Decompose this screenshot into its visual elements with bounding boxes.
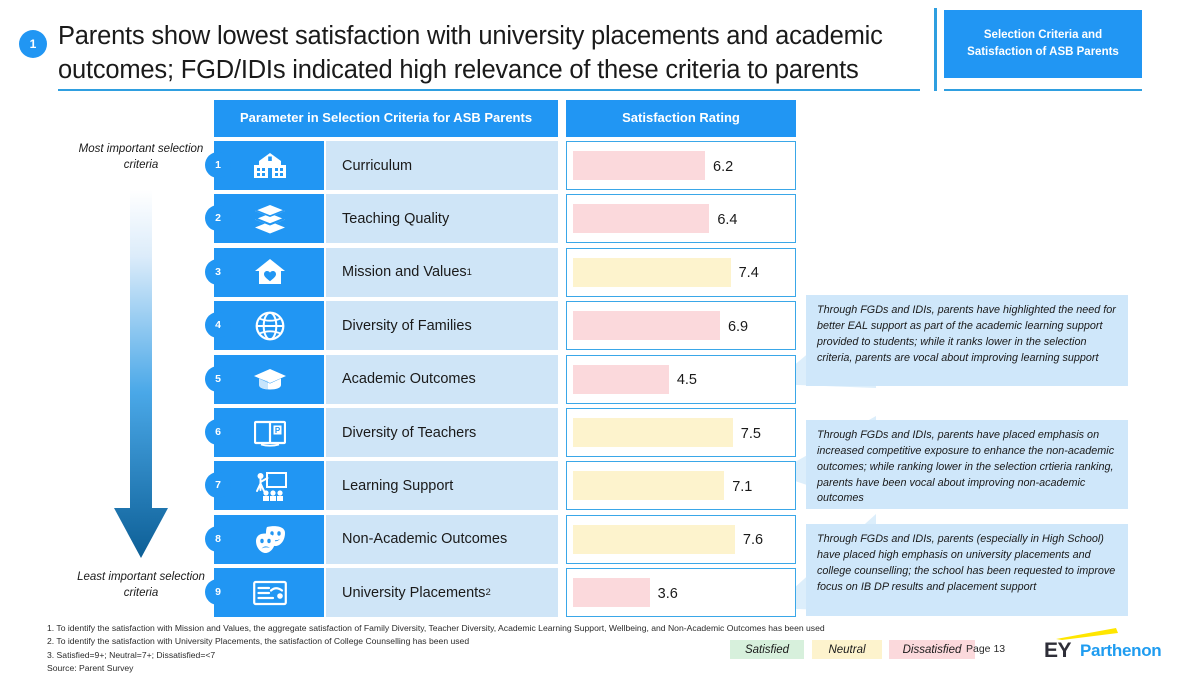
house-heart-icon [244, 255, 296, 290]
section-tag: Selection Criteria and Satisfaction of A… [944, 10, 1142, 78]
rating-bar [573, 578, 650, 607]
rating-value: 4.5 [677, 356, 697, 405]
row-label-text: Curriculum [342, 158, 412, 174]
row-icon-cell: 1 [214, 141, 324, 190]
importance-arrow-icon [110, 190, 172, 560]
globe-icon [244, 308, 296, 343]
table-row[interactable]: 2Teaching Quality6.4 [214, 194, 796, 243]
row-label: Teaching Quality [326, 194, 558, 243]
row-icon-cell: 2 [214, 194, 324, 243]
row-label: Diversity of Families [326, 301, 558, 350]
school-icon [244, 148, 296, 183]
row-icon-cell: 6P [214, 408, 324, 457]
table-row[interactable]: 1Curriculum6.2 [214, 141, 796, 190]
rating-cell: 4.5 [566, 355, 796, 404]
rating-cell: 7.5 [566, 408, 796, 457]
column-header-rating: Satisfaction Rating [566, 100, 796, 137]
row-rank-badge: 2 [205, 205, 231, 231]
row-label-text: Non-Academic Outcomes [342, 531, 507, 547]
books-icon [244, 201, 296, 236]
ey-parthenon-logo: EY Parthenon [1044, 628, 1154, 668]
row-label: Diversity of Teachers [326, 408, 558, 457]
legend-satisfied: Satisfied [730, 640, 804, 659]
row-icon-cell: 7 [214, 461, 324, 510]
row-rank-badge: 6 [205, 419, 231, 445]
row-rank-badge: 7 [205, 472, 231, 498]
rating-bar [573, 151, 705, 180]
row-label: Curriculum [326, 141, 558, 190]
row-label: Academic Outcomes [326, 355, 558, 404]
source-note: Source: Parent Survey [47, 662, 997, 675]
theater-masks-icon [244, 522, 296, 557]
rating-cell: 6.4 [566, 194, 796, 243]
rating-bar [573, 471, 724, 500]
table-row[interactable]: 9University Placements23.6 [214, 568, 796, 617]
row-label-footnote: 1 [467, 267, 472, 278]
arrow-label-most-important: Most important selection criteria [76, 142, 206, 173]
rating-bar [573, 525, 735, 554]
rating-bar [573, 311, 720, 340]
rating-value: 7.1 [732, 462, 752, 511]
rating-value: 6.9 [728, 302, 748, 351]
row-icon-cell: 4 [214, 301, 324, 350]
rating-cell: 7.4 [566, 248, 796, 297]
slide-canvas: 1 Parents show lowest satisfaction with … [0, 0, 1201, 676]
row-icon-cell: 9 [214, 568, 324, 617]
rating-value: 6.4 [717, 195, 737, 244]
row-label-text: Learning Support [342, 478, 453, 494]
row-rank-badge: 9 [205, 579, 231, 605]
table-row[interactable]: 7Learning Support7.1 [214, 461, 796, 510]
table-row[interactable]: 5Academic Outcomes4.5 [214, 355, 796, 404]
rating-cell: 6.2 [566, 141, 796, 190]
row-rank-badge: 4 [205, 312, 231, 338]
table-row[interactable]: 6PDiversity of Teachers7.5 [214, 408, 796, 457]
rating-value: 6.2 [713, 142, 733, 191]
rating-value: 7.6 [743, 516, 763, 565]
header-rule [58, 89, 920, 91]
table-row[interactable]: 4Diversity of Families6.9 [214, 301, 796, 350]
rating-value: 3.6 [658, 569, 678, 618]
rating-cell: 6.9 [566, 301, 796, 350]
rating-bar [573, 204, 709, 233]
legend-neutral: Neutral [812, 640, 882, 659]
row-label-text: Mission and Values [342, 264, 467, 280]
column-header-parameter: Parameter in Selection Criteria for ASB … [214, 100, 558, 137]
row-label-text: Teaching Quality [342, 211, 449, 227]
row-label-text: University Placements [342, 585, 485, 601]
row-label-text: Diversity of Families [342, 318, 472, 334]
page-number: Page 13 [966, 643, 1005, 655]
footnote-1: 1. To identify the satisfaction with Mis… [47, 622, 997, 635]
row-icon-cell: 8 [214, 515, 324, 564]
rating-value: 7.4 [739, 249, 759, 298]
rating-cell: 7.1 [566, 461, 796, 510]
callout-university-placements: Through FGDs and IDIs, parents (especial… [806, 524, 1128, 616]
row-rank-badge: 1 [205, 152, 231, 178]
row-label: Mission and Values1 [326, 248, 558, 297]
table-row[interactable]: 3Mission and Values17.4 [214, 248, 796, 297]
row-rank-badge: 8 [205, 526, 231, 552]
row-rank-badge: 5 [205, 366, 231, 392]
rating-value: 7.5 [741, 409, 761, 458]
rating-cell: 3.6 [566, 568, 796, 617]
row-label-text: Diversity of Teachers [342, 425, 476, 441]
header-rule-right [944, 89, 1142, 91]
row-rank-badge: 3 [205, 259, 231, 285]
ey-wordmark: Parthenon [1080, 641, 1161, 661]
callout-non-academic-outcomes: Through FGDs and IDIs, parents have plac… [806, 420, 1128, 509]
row-label: Learning Support [326, 461, 558, 510]
callout-learning-support: Through FGDs and IDIs, parents have high… [806, 295, 1128, 386]
graduation-cap-icon [244, 362, 296, 397]
header-vertical-divider [934, 8, 937, 91]
rating-bar [573, 418, 733, 447]
table-row[interactable]: 8Non-Academic Outcomes7.6 [214, 515, 796, 564]
arrow-label-least-important: Least important selection criteria [76, 570, 206, 601]
row-icon-cell: 3 [214, 248, 324, 297]
row-label-footnote: 2 [485, 587, 490, 598]
row-label: University Placements2 [326, 568, 558, 617]
row-label: Non-Academic Outcomes [326, 515, 558, 564]
page-title: Parents show lowest satisfaction with un… [58, 20, 918, 87]
row-label-text: Academic Outcomes [342, 371, 476, 387]
rating-bar [573, 258, 731, 287]
open-book-icon: P [244, 415, 296, 450]
row-icon-cell: 5 [214, 355, 324, 404]
svg-text:P: P [275, 426, 281, 435]
certificate-icon [244, 575, 296, 610]
slide-number-badge: 1 [19, 30, 47, 58]
teacher-board-icon [244, 468, 296, 503]
legend-dissatisfied: Dissatisfied [889, 640, 975, 659]
rating-cell: 7.6 [566, 515, 796, 564]
rating-bar [573, 365, 669, 394]
ey-mark: EY [1044, 639, 1071, 663]
